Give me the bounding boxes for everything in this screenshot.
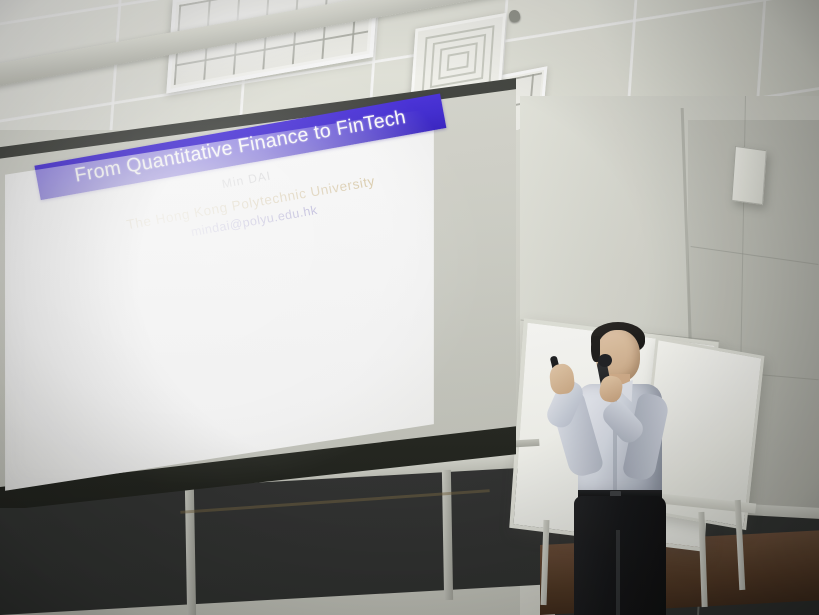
projection-screen: From Quantitative Finance to FinTech Min… (0, 78, 516, 508)
lecture-room-photo: From Quantitative Finance to FinTech Min… (0, 0, 819, 615)
presenter-hand-right (548, 363, 575, 395)
wall-speaker-icon (731, 146, 767, 205)
presenter (548, 318, 688, 615)
presenter-trousers (574, 496, 666, 615)
presenter-trouser-seam (616, 530, 620, 615)
